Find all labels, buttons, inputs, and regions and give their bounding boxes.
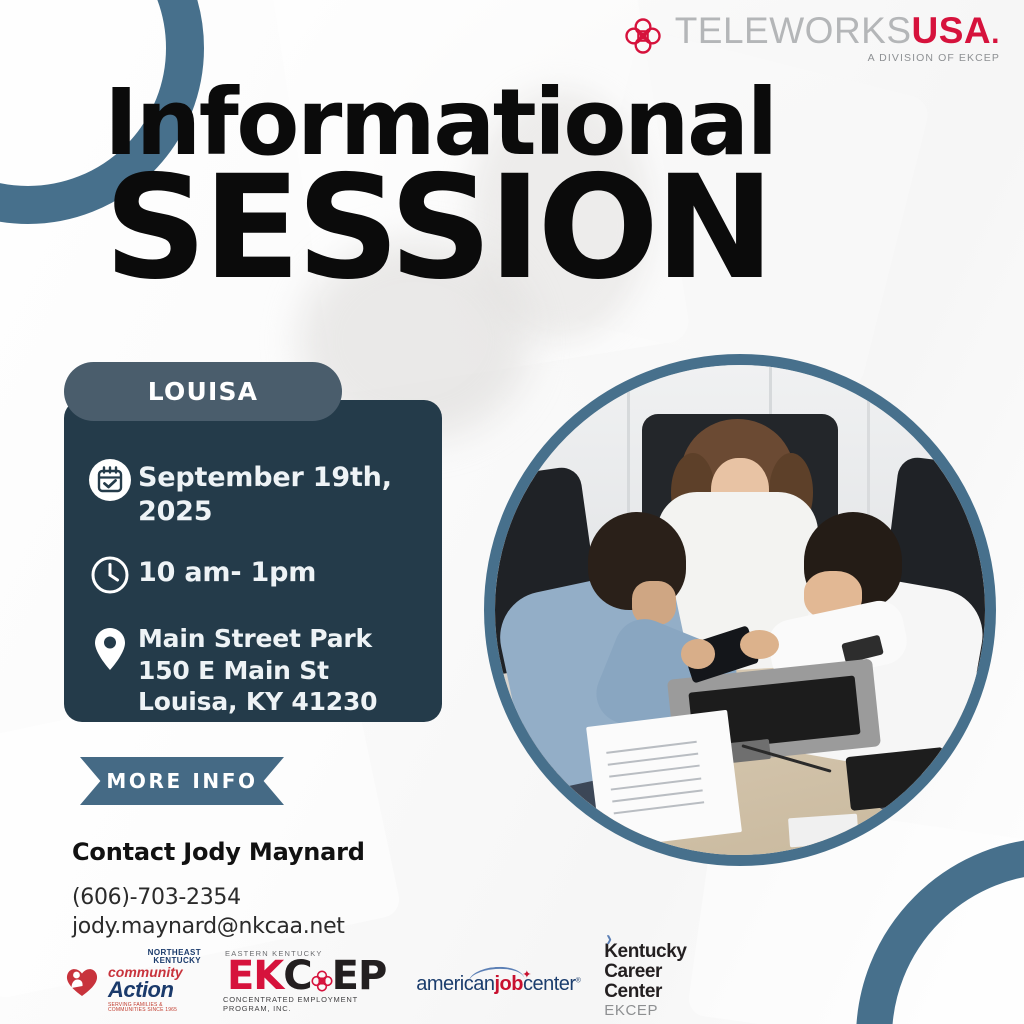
contact-name: Contact Jody Maynard [72, 838, 365, 866]
clock-icon [82, 553, 138, 596]
photo-notepad [788, 813, 858, 847]
ekcep-letter-e1: E [227, 958, 253, 994]
ekcep-letter-k: K [253, 958, 283, 994]
nkcaa-logo: NORTHEAST KENTUCKY community Action SERV… [62, 949, 201, 1013]
brand-tagline: A DIVISION OF EKCEP [868, 52, 1000, 64]
contact-email[interactable]: jody.maynard@nkcaa.net [72, 912, 365, 941]
photo-second-keyboard [845, 747, 948, 811]
brand-word-usa: USA [912, 12, 992, 49]
quatrefoil-logo-icon [621, 14, 665, 58]
partner-logos: NORTHEAST KENTUCKY community Action SERV… [62, 946, 702, 1016]
star-icon: ✦ [522, 968, 531, 981]
photo-person-right-hand [740, 630, 779, 659]
chevron-right-icon: › [606, 926, 612, 952]
event-details-card: September 19th, 2025 10 am- 1pm [64, 400, 442, 722]
heart-person-icon [62, 961, 102, 1001]
location-line-3: Louisa, KY 41230 [138, 686, 377, 718]
event-time-row: 10 am- 1pm [82, 553, 428, 596]
teleworks-usa-logo: TELEWORKSUSA. A DIVISION OF EKCEP [621, 12, 1000, 64]
photo-paper-document [586, 710, 742, 849]
ajc-registered-mark: ® [576, 977, 581, 984]
brand-wordmark: TELEWORKSUSA. [675, 12, 1000, 49]
contact-phone[interactable]: (606)-703-2354 [72, 883, 365, 912]
ekcep-letter-p: P [358, 958, 386, 994]
ekcep-letter-e2: E [332, 958, 358, 994]
nkcaa-bottom-text: SERVING FAMILIES & COMMUNITIES SINCE 196… [108, 1003, 201, 1013]
event-detail-rows: September 19th, 2025 10 am- 1pm [82, 458, 428, 718]
brand-word-teleworks: TELEWORKS [675, 12, 912, 49]
kcc-line-3: EKCEP [604, 1003, 658, 1020]
nkcaa-action-text: Action [108, 979, 201, 1001]
location-line-2: 150 E Main St [138, 655, 377, 687]
nkcaa-top-text: NORTHEAST KENTUCKY [108, 949, 201, 965]
photo-scene [495, 365, 985, 855]
contact-block: Contact Jody Maynard (606)-703-2354 jody… [72, 838, 365, 941]
brand-word-dot: . [991, 19, 1000, 49]
more-info-banner: MORE INFO [80, 757, 284, 805]
photo-person-left-neck [632, 581, 676, 625]
event-photo [484, 354, 996, 866]
event-time-text: 10 am- 1pm [138, 553, 316, 590]
more-info-label: MORE INFO [106, 769, 257, 793]
kcc-line-2: Career Center [604, 962, 702, 1002]
location-line-1: Main Street Park [138, 623, 377, 655]
page-title: Informational SESSION [104, 78, 776, 294]
headline-line-2: SESSION [104, 162, 776, 294]
ekcep-wordmark: EKCEP [227, 958, 386, 994]
event-date-text: September 19th, 2025 [138, 458, 428, 529]
calendar-check-icon [82, 458, 138, 501]
ekcep-logo: EASTERN KENTUCKY EKCEP CONCENTRATED EMPL… [223, 949, 390, 1013]
brand-text: TELEWORKSUSA. A DIVISION OF EKCEP [675, 12, 1000, 64]
photo-person-left-hand [681, 639, 715, 668]
location-badge-label: LOUISA [148, 377, 258, 406]
flyer-canvas: TELEWORKSUSA. A DIVISION OF EKCEP Inform… [0, 0, 1024, 1024]
location-pin-icon [82, 620, 138, 672]
ekcep-letter-c: C [283, 958, 311, 994]
american-job-center-logo: ✦ americanjobcenter® [416, 968, 580, 994]
location-badge: LOUISA [64, 362, 342, 421]
event-location-row: Main Street Park 150 E Main St Louisa, K… [82, 620, 428, 718]
nkcaa-text: NORTHEAST KENTUCKY community Action SERV… [108, 949, 201, 1013]
event-date-row: September 19th, 2025 [82, 458, 428, 529]
event-location-text: Main Street Park 150 E Main St Louisa, K… [138, 620, 377, 718]
kentucky-career-center-logo: › Kentucky Career Center EKCEP [604, 942, 702, 1019]
kcc-line-1: Kentucky [604, 942, 686, 962]
